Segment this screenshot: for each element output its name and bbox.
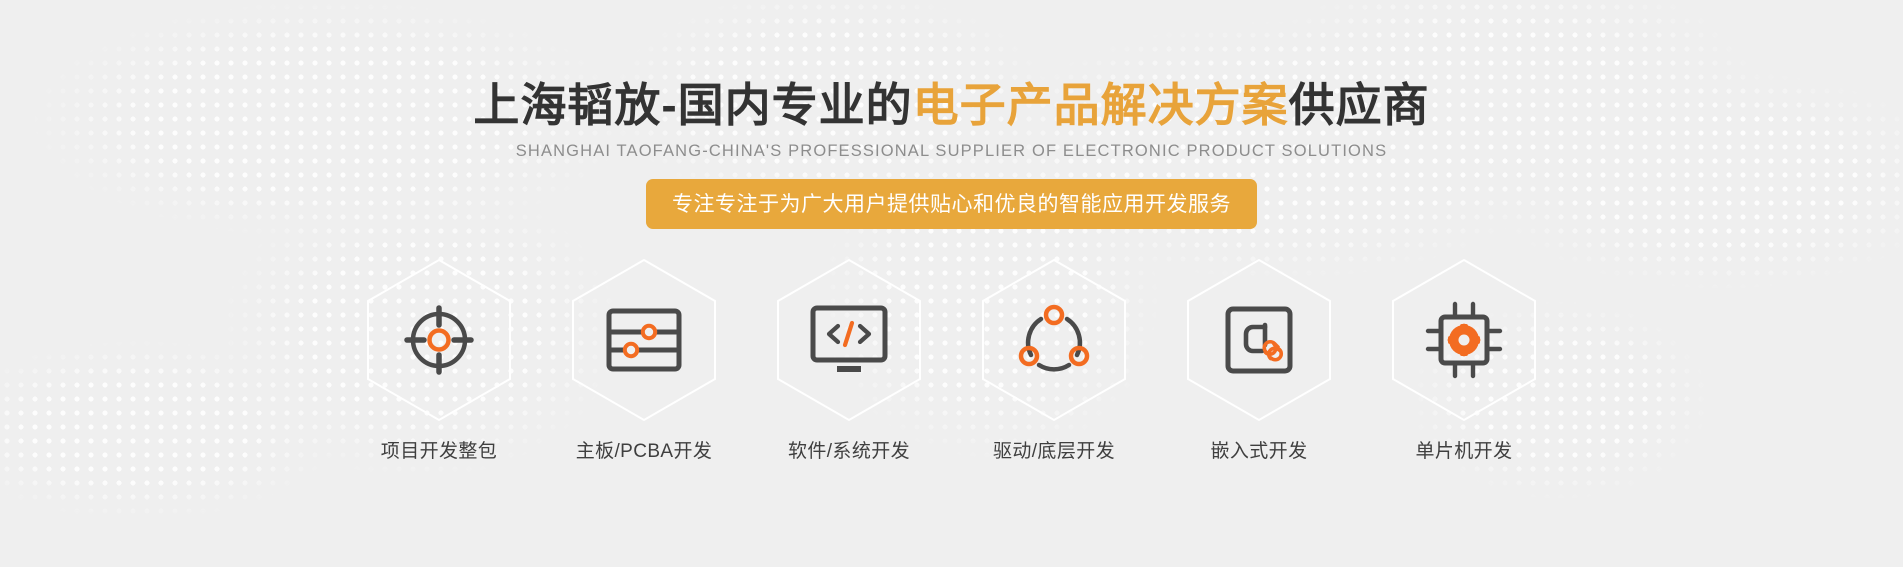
monitor-code-icon (810, 305, 888, 375)
pcb-board-icon (606, 308, 682, 372)
tagline-badge: 专注专注于为广大用户提供贴心和优良的智能应用开发服务 (646, 179, 1257, 229)
microchip-gear-icon (1424, 300, 1504, 380)
hexagon-frame (1391, 258, 1537, 422)
page-title: 上海韬放-国内专业的电子产品解决方案供应商 (0, 78, 1903, 132)
hexagon-frame (366, 258, 512, 422)
hexagon-frame (776, 258, 922, 422)
hexagon-frame (571, 258, 717, 422)
service-item-software[interactable]: 软件/系统开发 (747, 258, 952, 463)
headline-block: 上海韬放-国内专业的电子产品解决方案供应商 SHANGHAI TAOFANG-C… (0, 78, 1903, 229)
page-subtitle: SHANGHAI TAOFANG-CHINA'S PROFESSIONAL SU… (0, 142, 1903, 161)
title-part-2: 供应商 (1289, 79, 1430, 131)
service-label: 驱动/底层开发 (993, 436, 1115, 463)
service-item-mcu[interactable]: 单片机开发 (1362, 258, 1567, 463)
embedded-chip-link-icon (1224, 305, 1294, 375)
crosshair-target-icon (403, 304, 475, 376)
hexagon-frame (1186, 258, 1332, 422)
service-item-pcba[interactable]: 主板/PCBA开发 (542, 258, 747, 463)
service-item-driver[interactable]: 驱动/底层开发 (952, 258, 1157, 463)
service-label: 单片机开发 (1415, 436, 1512, 463)
title-highlight: 电子产品解决方案 (913, 79, 1289, 131)
service-label: 主板/PCBA开发 (576, 436, 713, 463)
service-label: 项目开发整包 (381, 436, 497, 463)
service-label: 软件/系统开发 (788, 436, 910, 463)
network-nodes-icon (1017, 303, 1091, 377)
service-item-embedded[interactable]: 嵌入式开发 (1157, 258, 1362, 463)
hexagon-frame (981, 258, 1127, 422)
service-list: 项目开发整包 主板/PCBA开发 (337, 258, 1567, 463)
title-part-1: 上海韬放-国内专业的 (473, 79, 912, 131)
hero-banner: 上海韬放-国内专业的电子产品解决方案供应商 SHANGHAI TAOFANG-C… (0, 0, 1903, 567)
badge-wrapper: 专注专注于为广大用户提供贴心和优良的智能应用开发服务 (0, 179, 1903, 229)
service-label: 嵌入式开发 (1210, 436, 1307, 463)
service-item-project-package[interactable]: 项目开发整包 (337, 258, 542, 463)
